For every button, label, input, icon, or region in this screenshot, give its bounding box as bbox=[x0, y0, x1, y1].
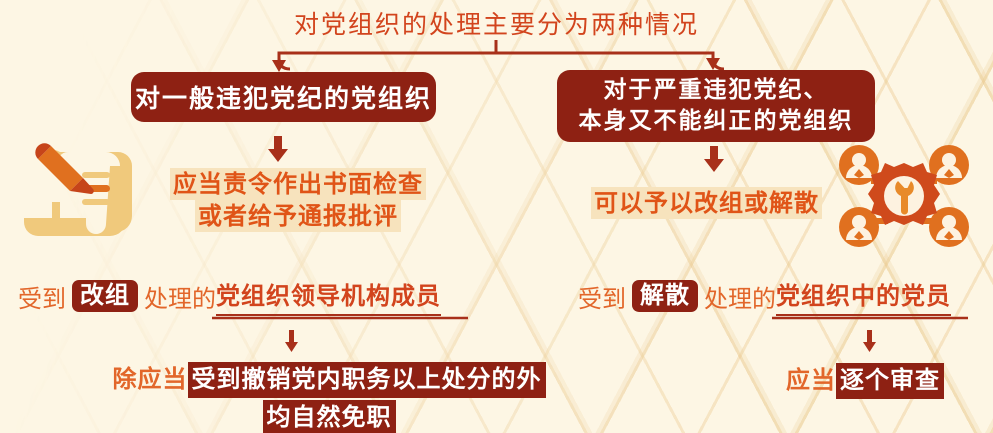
branch-right-middle-prefix: 受到 bbox=[578, 279, 626, 314]
branch-left-middle-connector: 处理的 bbox=[144, 279, 216, 314]
page-title: 对党组织的处理主要分为两种情况 bbox=[0, 10, 993, 40]
infographic-canvas: 对党组织的处理主要分为两种情况 对一般违犯党纪的党组织 对于严重违犯党纪、 本身… bbox=[0, 0, 993, 433]
branch-right-conclusion: 应当逐个审查 bbox=[786, 360, 944, 395]
arrow-left-mid-to-conclusion bbox=[285, 330, 298, 352]
branch-right-conclusion-prefix: 应当 bbox=[786, 366, 836, 394]
branch-right-heading-box: 对于严重违犯党纪、 本身又不能纠正的党组织 bbox=[557, 70, 875, 142]
arrow-right-mid-to-conclusion bbox=[863, 330, 876, 352]
arrow-left-box-to-action bbox=[268, 136, 288, 162]
branch-left-conclusion-prefix: 除应当 bbox=[113, 365, 188, 393]
branch-right-heading-line1: 对于严重违犯党纪、 bbox=[579, 75, 854, 106]
branch-right-middle-connector: 处理的 bbox=[704, 279, 776, 314]
branch-left-action-line2: 或者给予通报批评 bbox=[195, 200, 401, 232]
branch-right-middle-subject: 党组织中的党员 bbox=[776, 276, 951, 316]
branch-left-conclusion: 除应当受到撤销党内职务以上处分的外 均自然免职 bbox=[104, 360, 554, 433]
branch-left-middle-row: 受到 改组 处理的 党组织领导机构成员 bbox=[18, 276, 441, 316]
branch-right-middle-tag: 解散 bbox=[632, 280, 698, 312]
branch-right-heading-line2: 本身又不能纠正的党组织 bbox=[579, 106, 854, 137]
branch-left-middle-prefix: 受到 bbox=[18, 279, 66, 314]
branch-left-middle-subject: 党组织领导机构成员 bbox=[216, 276, 441, 316]
branch-left-heading-text: 对一般违犯党纪的党组织 bbox=[135, 79, 432, 115]
arrow-right-box-to-action bbox=[704, 146, 724, 172]
branch-left-action-line1: 应当责令作出书面检查 bbox=[170, 168, 426, 200]
branch-right-conclusion-fill1: 逐个审查 bbox=[836, 363, 944, 399]
document-pencil-icon bbox=[14, 142, 142, 246]
branch-left-middle-tag: 改组 bbox=[72, 280, 138, 312]
branch-left-conclusion-fill2: 均自然免职 bbox=[263, 400, 396, 433]
gear-team-icon bbox=[834, 143, 974, 249]
branch-right-action: 可以予以改组或解散 bbox=[591, 183, 822, 218]
branch-right-action-line1: 可以予以改组或解散 bbox=[591, 187, 822, 219]
branch-left-conclusion-fill1: 受到撤销党内职务以上处分的外 bbox=[188, 362, 546, 398]
branch-left-heading-box: 对一般违犯党纪的党组织 bbox=[131, 72, 436, 122]
branch-right-middle-row: 受到 解散 处理的 党组织中的党员 bbox=[578, 276, 951, 316]
branch-left-action: 应当责令作出书面检查 或者给予通报批评 bbox=[148, 168, 448, 232]
